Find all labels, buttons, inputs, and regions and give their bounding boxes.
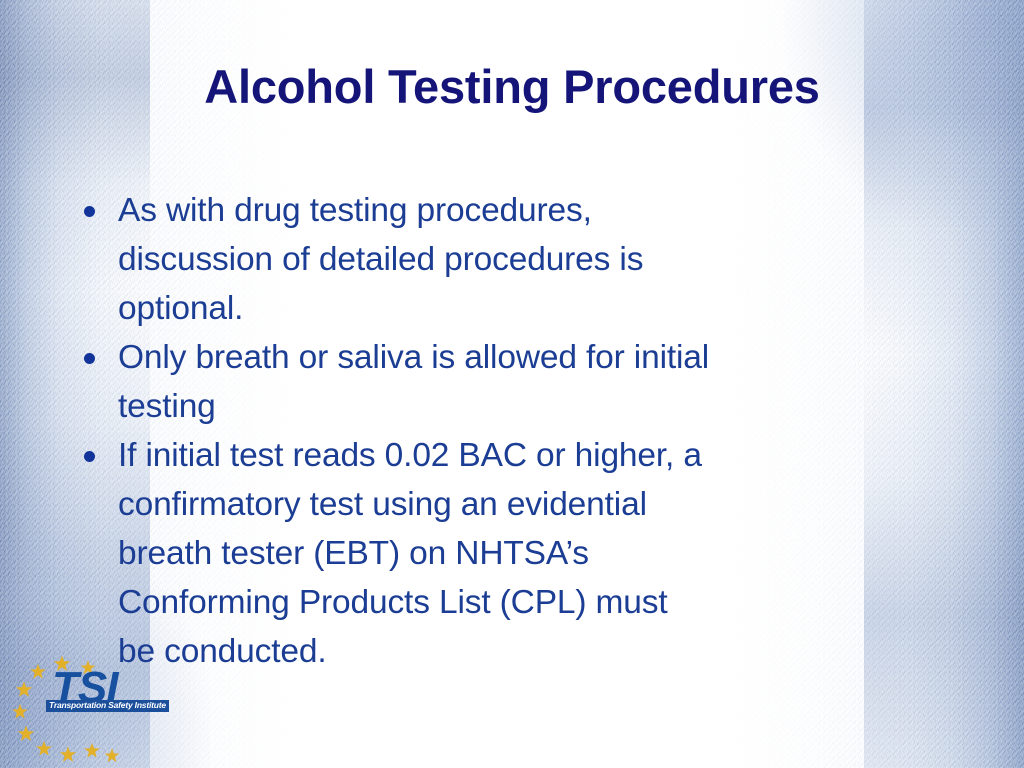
bullet-line: discussion of detailed procedures is: [118, 235, 964, 284]
bullet-marker-icon: [84, 431, 118, 462]
slide-title: Alcohol Testing Procedures: [0, 62, 1024, 111]
bullet-item: Only breath or saliva is allowed for ini…: [84, 333, 964, 431]
bullet-text: Only breath or saliva is allowed for ini…: [118, 333, 964, 431]
bullet-line: confirmatory test using an evidential: [118, 480, 964, 529]
slide-content: Alcohol Testing Procedures As with drug …: [0, 0, 1024, 768]
bullet-item: If initial test reads 0.02 BAC or higher…: [84, 431, 964, 676]
bullet-marker-icon: [84, 333, 118, 364]
bullet-line: Only breath or saliva is allowed for ini…: [118, 333, 964, 382]
bullet-line: As with drug testing procedures,: [118, 186, 964, 235]
bullet-line: testing: [118, 382, 964, 431]
bullet-line: If initial test reads 0.02 BAC or higher…: [118, 431, 964, 480]
bullet-text: As with drug testing procedures, discuss…: [118, 186, 964, 333]
bullet-text: If initial test reads 0.02 BAC or higher…: [118, 431, 964, 676]
bullet-line: breath tester (EBT) on NHTSA’s: [118, 529, 964, 578]
tsi-logo: TSI Transportation Safety Institute: [12, 650, 182, 768]
bullet-list: As with drug testing procedures, discuss…: [84, 186, 964, 676]
bullet-line: optional.: [118, 284, 964, 333]
bullet-item: As with drug testing procedures, discuss…: [84, 186, 964, 333]
bullet-line: Conforming Products List (CPL) must: [118, 578, 964, 627]
bullet-marker-icon: [84, 186, 118, 217]
tsi-subtitle: Transportation Safety Institute: [46, 700, 169, 712]
presentation-slide: Alcohol Testing Procedures As with drug …: [0, 0, 1024, 768]
bullet-line: be conducted.: [118, 627, 964, 676]
